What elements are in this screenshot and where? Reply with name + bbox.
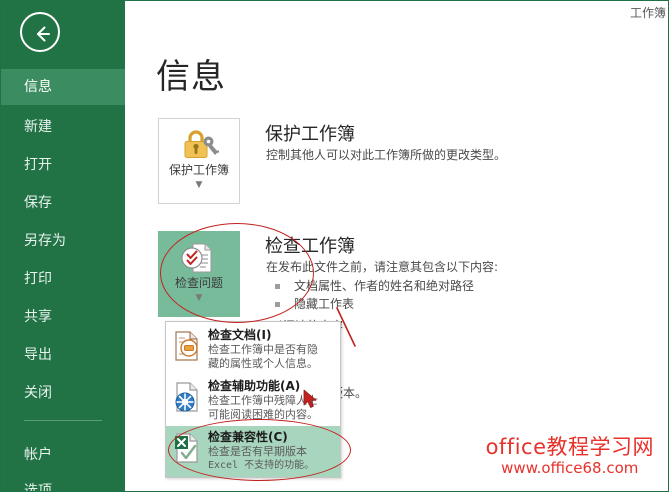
- menu-sub-line: 检查工作簿中残障人士: [208, 394, 336, 408]
- sidebar-item-label: 新建: [24, 119, 52, 135]
- sidebar-item-label: 另存为: [24, 233, 66, 249]
- sidebar-item-label: 帐户: [24, 447, 52, 463]
- sidebar-item-label: 导出: [24, 347, 52, 363]
- menu-item-description: 检查工作簿中残障人士 可能阅读困难的内容。: [208, 394, 336, 422]
- inspect-workbook-description: 在发布此文件之前，请注意其包含以下内容:: [266, 259, 498, 276]
- sidebar-item-save-as[interactable]: 另存为: [1, 223, 125, 259]
- window-title: 工作簿: [630, 4, 666, 21]
- page-title: 信息: [156, 49, 226, 98]
- sidebar-item-label: 保存: [24, 195, 52, 211]
- menu-item-description: 检查工作簿中是否有隐 藏的属性或个人信息。: [208, 343, 336, 371]
- sidebar-divider: [24, 420, 102, 421]
- sidebar-item-print[interactable]: 打印: [1, 261, 125, 297]
- excel-compatibility-icon: [172, 432, 202, 464]
- sidebar-item-save[interactable]: 保存: [1, 185, 125, 221]
- tile-label: 检查问题: [159, 276, 239, 290]
- inspect-document-icon: [172, 330, 202, 362]
- menu-item-title: 检查辅助功能(A): [208, 379, 336, 394]
- check-for-issues-dropdown-menu[interactable]: 检查文档(I) 检查工作簿中是否有隐 藏的属性或个人信息。: [165, 321, 341, 478]
- sidebar-item-close[interactable]: 关闭: [1, 375, 125, 411]
- menu-item-description: 检查是否有早期版本 Excel 不支持的功能。: [208, 445, 336, 473]
- sidebar-item-label: 打印: [24, 271, 52, 287]
- menu-sub-line: Excel 不支持的功能。: [208, 459, 336, 473]
- menu-sub-line: 检查是否有早期版本: [208, 445, 336, 459]
- menu-sub-line: 藏的属性或个人信息。: [208, 357, 336, 371]
- list-item: 文档属性、作者的姓名和绝对路径: [271, 277, 474, 295]
- protect-workbook-description: 控制其他人可以对此工作簿所做的更改类型。: [266, 147, 506, 164]
- excel-backstage-window: 信息 新建 打开 保存 另存为 打印 共享 导出 关闭 帐户 选项: [0, 0, 669, 492]
- list-item: 隐藏工作表: [271, 295, 474, 313]
- protect-workbook-button[interactable]: 保护工作簿 ▼: [158, 118, 240, 204]
- sidebar-item-info[interactable]: 信息: [1, 69, 125, 105]
- watermark: office教程学习网 www.office68.com: [486, 435, 654, 477]
- menu-item-title: 检查文档(I): [208, 328, 336, 343]
- menu-sub-line: 检查工作簿中是否有隐: [208, 343, 336, 357]
- menu-item-inspect-document[interactable]: 检查文档(I) 检查工作簿中是否有隐 藏的属性或个人信息。: [166, 324, 340, 375]
- inspect-workbook-heading: 检查工作簿: [265, 232, 355, 258]
- lock-key-icon: [159, 119, 239, 163]
- sidebar-item-label: 打开: [24, 157, 52, 173]
- sidebar-item-options[interactable]: 选项: [1, 473, 125, 492]
- check-for-issues-button[interactable]: 检查问题 ▼: [158, 231, 240, 317]
- backstage-sidebar: 信息 新建 打开 保存 另存为 打印 共享 导出 关闭 帐户 选项: [1, 1, 125, 492]
- chevron-down-icon: ▼: [159, 292, 239, 304]
- watermark-url: www.office68.com: [486, 459, 654, 477]
- sidebar-item-label: 共享: [24, 309, 52, 325]
- sidebar-item-share[interactable]: 共享: [1, 299, 125, 335]
- sidebar-item-label: 信息: [24, 79, 52, 95]
- document-check-icon: [159, 232, 239, 276]
- menu-sub-line: 可能阅读困难的内容。: [208, 408, 336, 422]
- menu-item-check-compatibility[interactable]: 检查兼容性(C) 检查是否有早期版本 Excel 不支持的功能。: [166, 426, 340, 477]
- back-button[interactable]: [20, 12, 60, 52]
- sidebar-item-export[interactable]: 导出: [1, 337, 125, 373]
- menu-item-title: 检查兼容性(C): [208, 430, 336, 445]
- title-bar: 工作簿: [249, 1, 668, 23]
- sidebar-item-label: 关闭: [24, 385, 52, 401]
- inspect-workbook-bullet-list: 文档属性、作者的姓名和绝对路径 隐藏工作表: [271, 277, 474, 313]
- watermark-site-name: office教程学习网: [486, 435, 654, 459]
- tile-label: 保护工作簿: [159, 163, 239, 177]
- protect-workbook-heading: 保护工作簿: [265, 120, 355, 146]
- backstage-main-pane: 工作簿 信息 保护工作簿 ▼ 保护工作簿 控制其他人可以对此工作簿: [125, 1, 668, 491]
- accessibility-wheel-icon: [172, 381, 202, 413]
- sidebar-item-new[interactable]: 新建: [1, 109, 125, 145]
- sidebar-item-open[interactable]: 打开: [1, 147, 125, 183]
- chevron-down-icon: ▼: [159, 179, 239, 191]
- sidebar-item-label: 选项: [24, 483, 52, 492]
- menu-item-check-accessibility[interactable]: 检查辅助功能(A) 检查工作簿中残障人士 可能阅读困难的内容。: [166, 375, 340, 426]
- back-arrow-icon: [22, 23, 58, 45]
- sidebar-item-account[interactable]: 帐户: [1, 437, 125, 473]
